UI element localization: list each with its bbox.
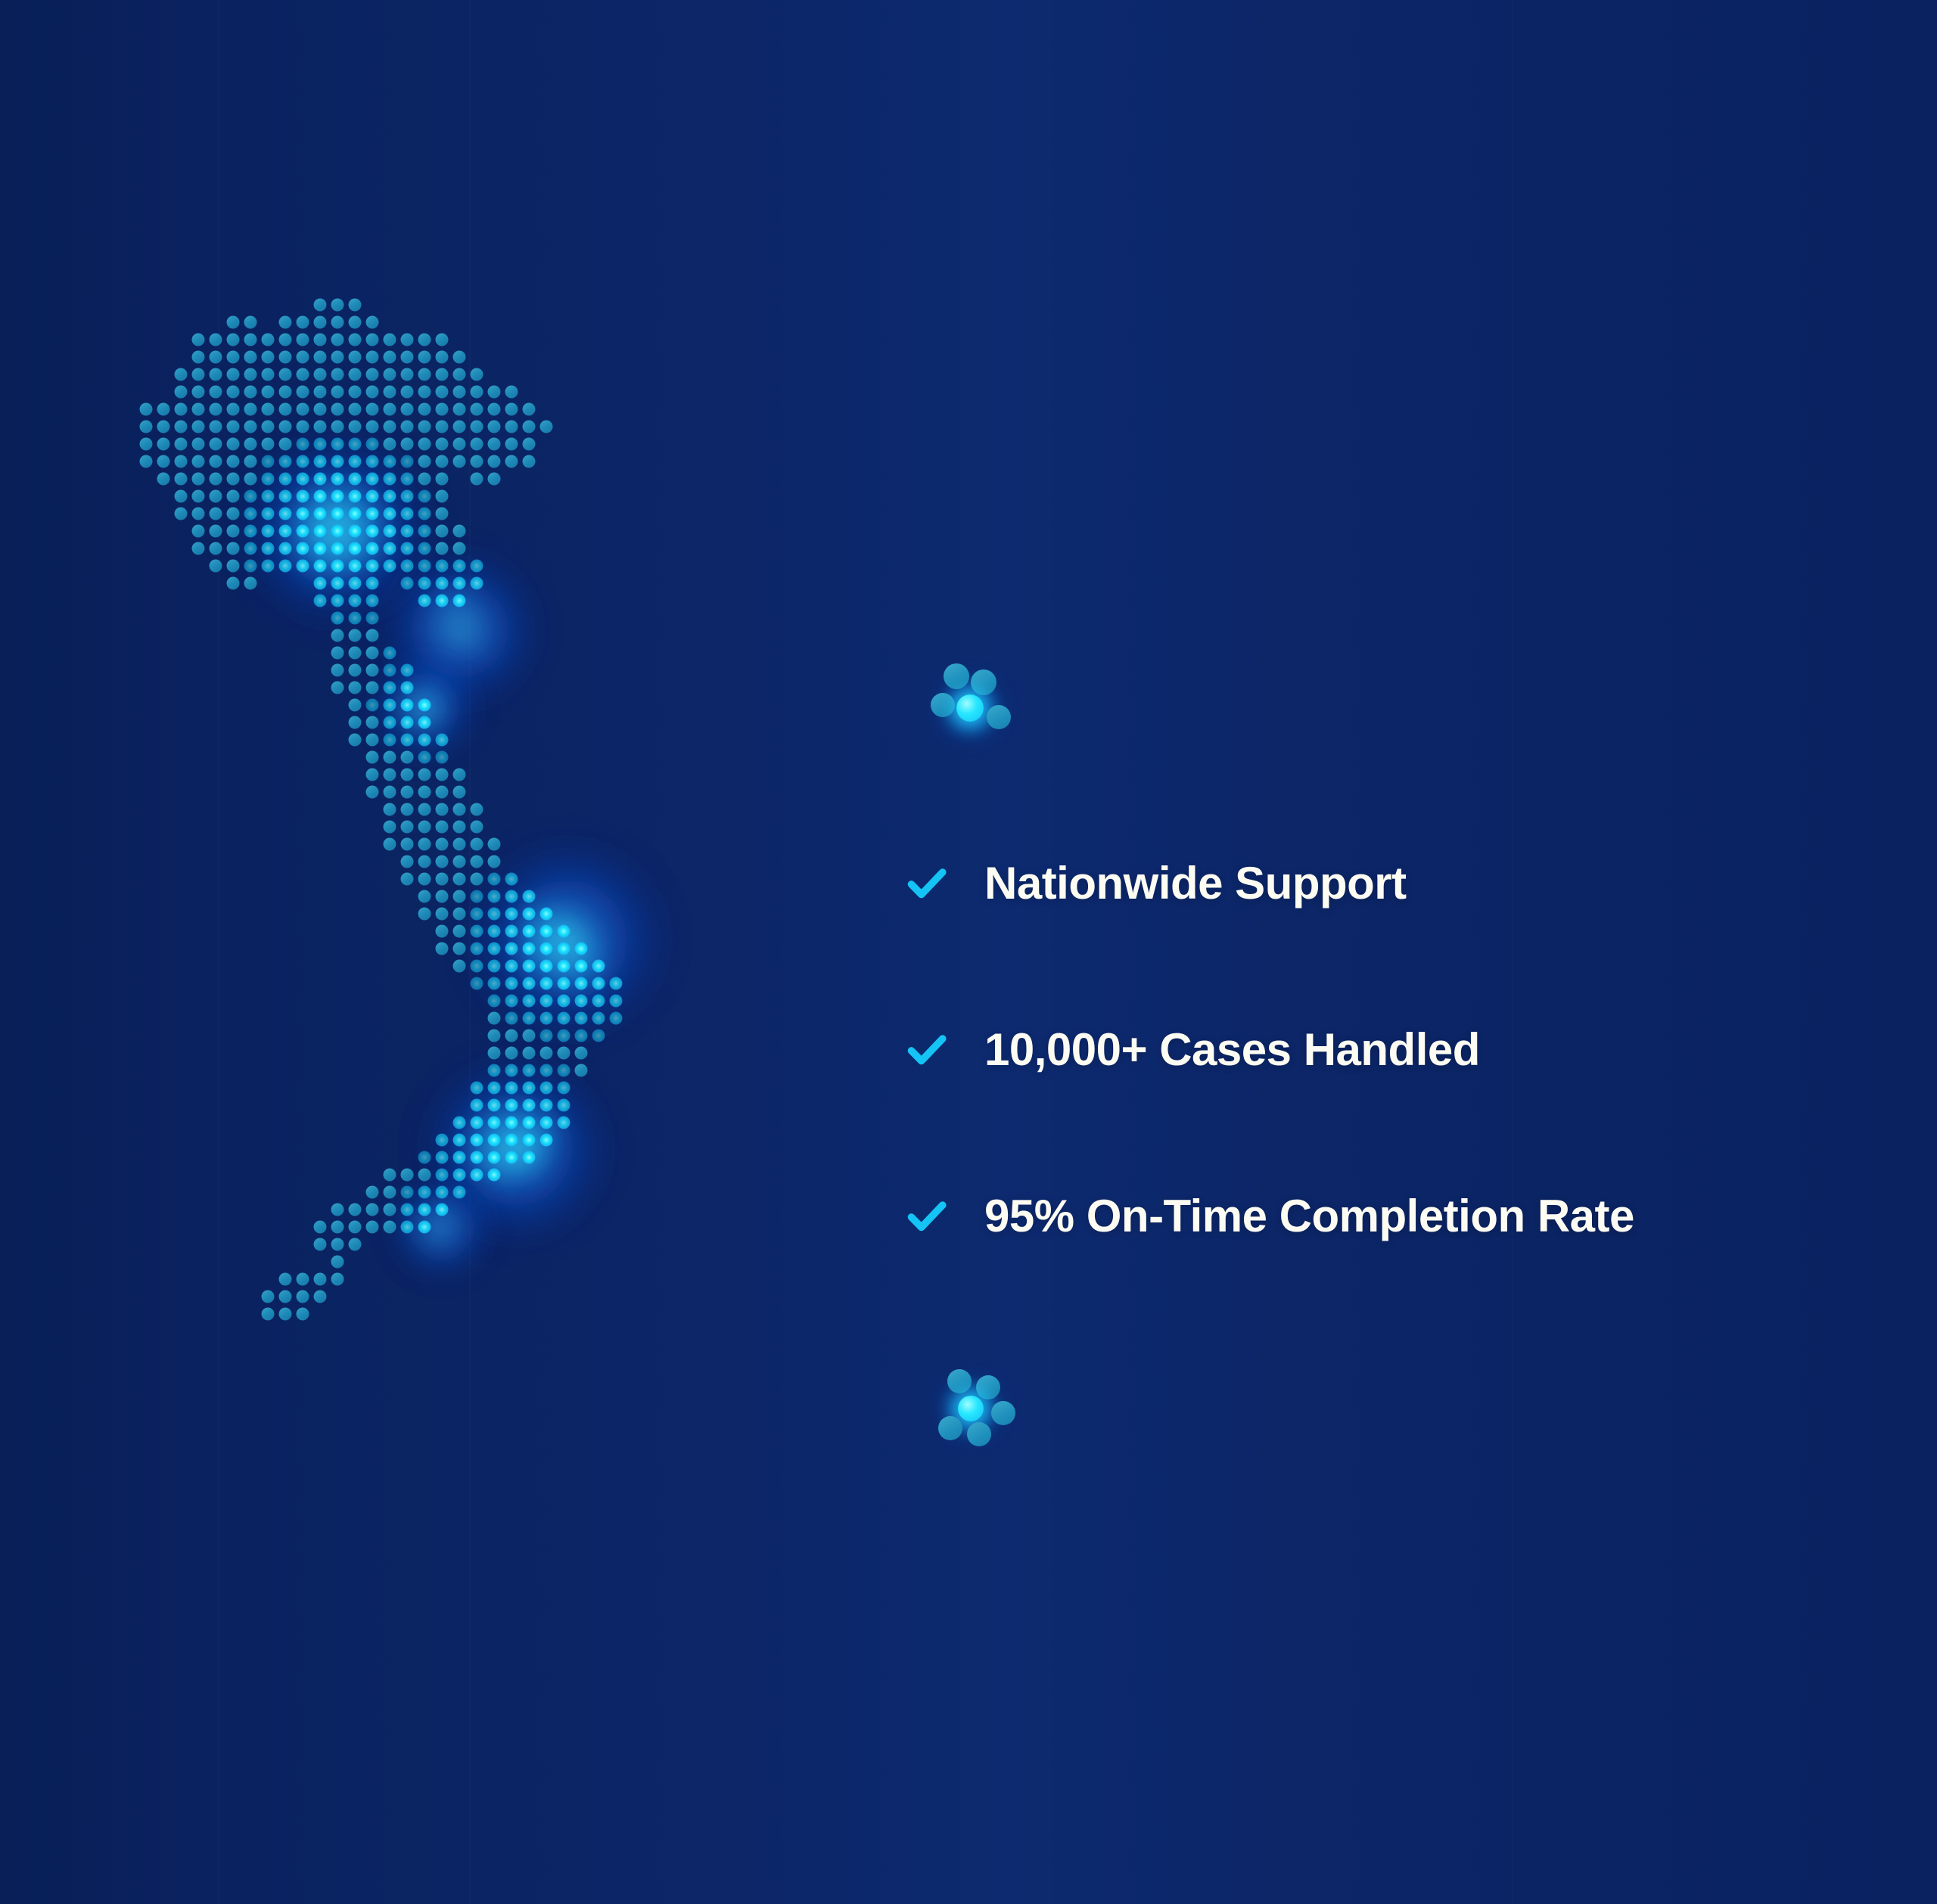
map-dot — [279, 473, 292, 486]
map-dot — [471, 977, 483, 990]
map-dot — [279, 334, 292, 346]
map-dot — [436, 838, 449, 851]
map-dot — [192, 438, 205, 451]
map-dot — [558, 960, 571, 973]
feature-item-nationwide-support: Nationwide Support — [904, 847, 1888, 920]
map-dot — [331, 1221, 344, 1234]
check-icon — [904, 1027, 950, 1073]
cluster-dot — [987, 705, 1011, 729]
map-dot — [349, 351, 362, 364]
map-dot — [401, 525, 414, 538]
map-dot — [279, 455, 292, 468]
map-dot — [297, 421, 309, 433]
map-dot — [192, 542, 205, 555]
map-dot — [244, 316, 257, 329]
map-dot — [297, 560, 309, 573]
map-dot — [488, 1064, 501, 1077]
map-dot — [418, 525, 431, 538]
map-dot — [418, 403, 431, 416]
map-dot — [192, 473, 205, 486]
map-dot — [575, 960, 588, 973]
map-dot — [401, 421, 414, 433]
map-dot — [192, 490, 205, 503]
map-dot — [349, 473, 362, 486]
cluster-dot — [991, 1401, 1015, 1425]
map-dot — [297, 386, 309, 399]
map-dot — [384, 560, 396, 573]
map-dot — [453, 856, 466, 868]
map-dot — [384, 838, 396, 851]
map-dot — [540, 1030, 553, 1042]
vietnam-dot-map-svg — [129, 280, 855, 1611]
map-dot — [314, 508, 327, 520]
cluster-dot-highlight — [956, 694, 984, 722]
map-dot — [314, 577, 327, 590]
map-dot — [523, 1047, 536, 1060]
map-dot — [418, 560, 431, 573]
map-dot — [453, 1117, 466, 1129]
map-dot — [227, 560, 240, 573]
map-dot — [540, 925, 553, 938]
map-dot — [384, 821, 396, 834]
map-dot — [401, 716, 414, 729]
map-dot — [384, 716, 396, 729]
map-dot — [297, 368, 309, 381]
map-dot — [314, 438, 327, 451]
map-dot — [297, 316, 309, 329]
map-dot — [297, 1273, 309, 1286]
map-dot — [244, 577, 257, 590]
map-dot — [523, 960, 536, 973]
map-dot — [401, 542, 414, 555]
map-dot — [592, 1030, 605, 1042]
cluster-dot — [947, 1369, 972, 1393]
map-dot — [366, 595, 379, 607]
map-dot — [384, 438, 396, 451]
map-dot — [540, 960, 553, 973]
map-dot — [331, 351, 344, 364]
map-dot — [349, 699, 362, 712]
map-dot — [244, 334, 257, 346]
map-dot — [453, 803, 466, 816]
map-dot — [349, 716, 362, 729]
map-dot — [175, 368, 188, 381]
map-dot — [227, 508, 240, 520]
map-dot — [418, 1221, 431, 1234]
map-dot — [314, 542, 327, 555]
map-dot — [418, 890, 431, 903]
map-dot — [349, 386, 362, 399]
map-dot — [331, 438, 344, 451]
map-dot — [366, 525, 379, 538]
map-dot — [488, 995, 501, 1008]
map-dot — [453, 525, 466, 538]
feature-label: 10,000+ Cases Handled — [984, 1027, 1480, 1073]
map-dot — [366, 612, 379, 625]
map-dot — [279, 316, 292, 329]
map-dot — [175, 386, 188, 399]
map-dot — [314, 351, 327, 364]
map-dot — [157, 421, 170, 433]
map-dot — [488, 1169, 501, 1182]
map-dot — [227, 421, 240, 433]
map-dot — [558, 1082, 571, 1095]
map-dot — [505, 403, 518, 416]
map-dot — [453, 438, 466, 451]
map-dot — [401, 699, 414, 712]
map-dot — [401, 1204, 414, 1216]
map-dot — [471, 386, 483, 399]
map-dot — [331, 299, 344, 312]
feature-list: Nationwide Support 10,000+ Cases Handled… — [904, 847, 1888, 1253]
map-dot — [384, 803, 396, 816]
map-dot — [401, 1169, 414, 1182]
map-dot — [418, 334, 431, 346]
map-dot — [384, 1186, 396, 1199]
map-dot — [140, 421, 153, 433]
map-dot — [523, 908, 536, 921]
cluster-dot — [967, 1422, 991, 1446]
map-dot — [488, 403, 501, 416]
map-dot — [558, 943, 571, 955]
map-dot — [157, 473, 170, 486]
map-dot — [244, 421, 257, 433]
map-dot — [436, 351, 449, 364]
map-dot — [349, 664, 362, 677]
cluster-dot-highlight — [958, 1396, 984, 1421]
map-dot — [210, 542, 222, 555]
map-dot — [384, 334, 396, 346]
map-dot — [314, 595, 327, 607]
map-dot — [384, 647, 396, 660]
map-dot — [244, 403, 257, 416]
map-dot — [418, 1186, 431, 1199]
map-dot — [488, 1134, 501, 1147]
map-dot — [227, 473, 240, 486]
map-dot — [471, 890, 483, 903]
check-icon — [904, 1194, 950, 1239]
map-dot — [244, 560, 257, 573]
map-dot — [210, 455, 222, 468]
map-dot — [314, 316, 327, 329]
map-dot — [349, 629, 362, 642]
map-dot — [436, 386, 449, 399]
map-dot — [558, 1064, 571, 1077]
map-dot — [366, 1221, 379, 1234]
map-dot — [523, 1012, 536, 1025]
map-dot — [523, 1064, 536, 1077]
feature-item-cases-handled: 10,000+ Cases Handled — [904, 1014, 1888, 1086]
map-dot — [488, 873, 501, 886]
map-dot — [157, 403, 170, 416]
map-dot — [575, 1012, 588, 1025]
map-dot — [436, 368, 449, 381]
map-dot — [244, 508, 257, 520]
map-dot — [523, 977, 536, 990]
map-dot — [540, 977, 553, 990]
map-dot — [418, 699, 431, 712]
map-dot — [488, 1099, 501, 1112]
map-dot — [453, 873, 466, 886]
map-dot — [488, 473, 501, 486]
map-dot — [540, 995, 553, 1008]
map-dot — [436, 421, 449, 433]
map-dot — [505, 995, 518, 1008]
map-dot — [453, 838, 466, 851]
map-dot — [192, 525, 205, 538]
map-dot — [558, 1012, 571, 1025]
map-dot — [505, 1099, 518, 1112]
map-dot — [366, 560, 379, 573]
map-dot — [297, 525, 309, 538]
map-dot — [244, 368, 257, 381]
map-dot — [471, 560, 483, 573]
map-dot — [488, 1082, 501, 1095]
map-dot — [349, 1204, 362, 1216]
map-dot — [418, 803, 431, 816]
map-dot — [157, 455, 170, 468]
map-dot — [471, 1134, 483, 1147]
map-dot — [418, 1169, 431, 1182]
map-dot — [436, 856, 449, 868]
map-dot — [331, 595, 344, 607]
map-dot — [349, 368, 362, 381]
map-dot — [366, 1186, 379, 1199]
map-dot — [436, 473, 449, 486]
map-dot — [175, 421, 188, 433]
map-dot — [349, 438, 362, 451]
map-dot — [471, 873, 483, 886]
map-dot — [523, 455, 536, 468]
map-dot — [227, 351, 240, 364]
map-dot — [279, 351, 292, 364]
map-dot — [210, 508, 222, 520]
map-dot — [227, 316, 240, 329]
map-dot — [297, 473, 309, 486]
map-dot — [279, 1308, 292, 1321]
map-dot — [262, 368, 275, 381]
map-dot — [505, 943, 518, 955]
map-dot — [401, 682, 414, 694]
map-dot — [401, 1186, 414, 1199]
map-dot — [523, 1030, 536, 1042]
map-dot — [297, 1308, 309, 1321]
map-dot — [418, 386, 431, 399]
cluster-dot — [938, 1416, 962, 1440]
map-dot — [314, 560, 327, 573]
map-dot — [227, 490, 240, 503]
map-dot — [331, 421, 344, 433]
map-dot — [384, 1221, 396, 1234]
map-dot — [210, 525, 222, 538]
map-dot — [558, 925, 571, 938]
map-dot — [505, 1151, 518, 1164]
map-dot — [453, 960, 466, 973]
map-dot — [523, 925, 536, 938]
map-dot — [314, 299, 327, 312]
map-dot — [471, 1169, 483, 1182]
map-dot — [453, 925, 466, 938]
map-dot — [471, 1151, 483, 1164]
map-dot — [349, 595, 362, 607]
map-dot — [192, 351, 205, 364]
map-dot — [331, 542, 344, 555]
map-dot — [366, 490, 379, 503]
map-dot — [244, 351, 257, 364]
map-dot — [331, 560, 344, 573]
map-dot — [366, 786, 379, 799]
map-dot — [471, 1099, 483, 1112]
map-dot — [175, 473, 188, 486]
map-dot — [436, 490, 449, 503]
map-dot — [331, 612, 344, 625]
map-dot — [592, 1012, 605, 1025]
map-dot — [384, 699, 396, 712]
map-dot — [262, 1291, 275, 1303]
map-dot — [471, 577, 483, 590]
map-dot — [192, 508, 205, 520]
map-dot — [436, 751, 449, 764]
map-dot — [331, 386, 344, 399]
map-dot — [279, 1273, 292, 1286]
map-dot — [401, 351, 414, 364]
map-dot — [366, 316, 379, 329]
map-dot — [488, 960, 501, 973]
map-dot — [401, 1221, 414, 1234]
map-dot — [244, 386, 257, 399]
map-dot — [436, 334, 449, 346]
map-dot — [349, 542, 362, 555]
map-dot — [175, 403, 188, 416]
map-dot — [297, 455, 309, 468]
map-dot — [505, 977, 518, 990]
map-dot — [505, 1117, 518, 1129]
map-dot — [401, 490, 414, 503]
decorative-dot-cluster-top — [932, 663, 1023, 746]
map-dot — [279, 438, 292, 451]
map-dot — [523, 421, 536, 433]
map-dot — [418, 455, 431, 468]
map-dot — [349, 316, 362, 329]
map-dot — [418, 751, 431, 764]
map-dot — [523, 403, 536, 416]
map-dot — [262, 438, 275, 451]
map-dot — [244, 473, 257, 486]
map-dot — [384, 1204, 396, 1216]
map-dot — [279, 560, 292, 573]
map-dot — [384, 473, 396, 486]
map-dot — [453, 1186, 466, 1199]
map-dot — [558, 1117, 571, 1129]
map-dot — [436, 455, 449, 468]
map-dot — [610, 1012, 623, 1025]
map-dot — [279, 508, 292, 520]
map-dot — [297, 438, 309, 451]
map-dot — [436, 1151, 449, 1164]
feature-label: Nationwide Support — [984, 861, 1407, 906]
map-dot — [227, 455, 240, 468]
map-dot — [471, 821, 483, 834]
map-dot — [366, 351, 379, 364]
map-dot — [401, 455, 414, 468]
map-dot — [418, 908, 431, 921]
map-dot — [314, 368, 327, 381]
map-dot — [366, 699, 379, 712]
map-dot — [314, 1221, 327, 1234]
map-dot — [453, 542, 466, 555]
map-dot — [314, 525, 327, 538]
map-dot — [418, 490, 431, 503]
map-dot — [401, 438, 414, 451]
map-dot — [366, 716, 379, 729]
map-dot — [418, 577, 431, 590]
map-dot — [523, 943, 536, 955]
map-dot — [540, 1117, 553, 1129]
map-dot — [436, 1186, 449, 1199]
map-dot — [401, 577, 414, 590]
map-dot — [453, 1169, 466, 1182]
map-dot — [331, 1256, 344, 1269]
map-dot — [366, 542, 379, 555]
map-dot — [471, 856, 483, 868]
map-dot — [384, 508, 396, 520]
map-dot — [540, 1064, 553, 1077]
map-dot — [314, 386, 327, 399]
map-dot — [418, 716, 431, 729]
map-dot — [471, 803, 483, 816]
map-dot — [436, 595, 449, 607]
map-dot — [453, 908, 466, 921]
map-dot — [523, 1117, 536, 1129]
map-dot — [436, 908, 449, 921]
map-dot — [366, 629, 379, 642]
cluster-dot — [931, 693, 955, 717]
map-dot — [314, 490, 327, 503]
map-dot — [453, 455, 466, 468]
map-dot — [488, 1151, 501, 1164]
map-dot — [575, 995, 588, 1008]
map-dot — [349, 421, 362, 433]
map-dot — [349, 647, 362, 660]
map-dot — [366, 734, 379, 747]
map-dot — [418, 351, 431, 364]
map-dot — [349, 334, 362, 346]
map-dot — [453, 786, 466, 799]
map-dot — [331, 647, 344, 660]
map-dot — [453, 595, 466, 607]
map-dot — [349, 508, 362, 520]
map-dot — [366, 403, 379, 416]
map-dot — [366, 473, 379, 486]
map-dot — [505, 1064, 518, 1077]
map-dot — [262, 455, 275, 468]
map-dot — [227, 438, 240, 451]
map-dot — [401, 821, 414, 834]
map-dot — [349, 525, 362, 538]
map-dot — [331, 525, 344, 538]
map-dot — [436, 786, 449, 799]
map-dot — [384, 751, 396, 764]
map-dot — [262, 403, 275, 416]
map-dot — [610, 995, 623, 1008]
map-dot — [418, 508, 431, 520]
map-dot — [331, 629, 344, 642]
map-dot — [436, 943, 449, 955]
map-dot — [436, 803, 449, 816]
map-dot — [314, 455, 327, 468]
map-dot — [384, 403, 396, 416]
map-dot — [418, 734, 431, 747]
